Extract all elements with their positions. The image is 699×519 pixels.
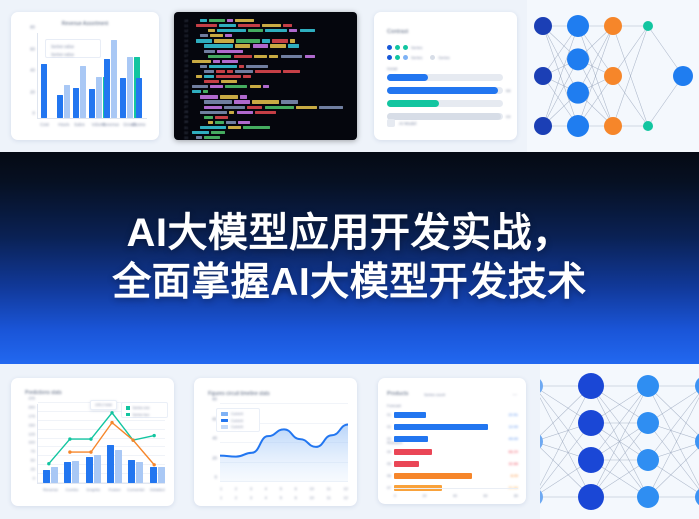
- x-tick: 10: [310, 486, 314, 491]
- line-number: 14: [177, 39, 188, 43]
- hbar-value: 22.51: [508, 413, 518, 417]
- code-token: [225, 34, 231, 37]
- line-number: 13: [177, 34, 188, 38]
- code-token: [208, 55, 231, 58]
- card-footer: AI Model: [387, 119, 416, 127]
- legend-row-1: Series: [387, 45, 427, 50]
- code-token: [262, 39, 270, 42]
- code-token: [235, 19, 254, 22]
- line-number: 23: [177, 85, 188, 89]
- code-token: [210, 34, 223, 37]
- code-token: [234, 100, 250, 103]
- code-token: [238, 121, 250, 124]
- x-tick: Reverse: [43, 487, 58, 492]
- bar: [41, 64, 47, 118]
- legend-label: Series: [438, 55, 449, 60]
- contrast-card: Contrast Series Series Series Detail 6: [374, 12, 517, 140]
- y-tick: 150: [28, 422, 35, 427]
- hbar-value: 12.00: [508, 425, 518, 429]
- hbar: [394, 436, 428, 442]
- code-token: [247, 106, 262, 109]
- x-tick: 3: [250, 495, 252, 500]
- x-tick: 5: [280, 495, 282, 500]
- progress-fill: [387, 87, 498, 94]
- code-token: [221, 80, 237, 83]
- code-token: [208, 29, 215, 32]
- code-token: [254, 55, 266, 58]
- x-tick: Cost: [40, 122, 49, 127]
- line-number: 26: [177, 100, 188, 104]
- more-icon[interactable]: ⋯: [512, 392, 517, 398]
- x-tick: 4: [265, 486, 267, 491]
- hbar-value: 32.88: [508, 462, 518, 466]
- x-tick: 12: [344, 495, 348, 500]
- x-tick: Income: [132, 122, 146, 127]
- code-token: [204, 80, 219, 83]
- line-number: 32: [177, 131, 188, 135]
- x-tick: Fusion: [109, 487, 121, 492]
- hbar-value: 8.09: [511, 474, 518, 478]
- horizontal-bar-card: Products Series count ⋯ Forecast Researc…: [378, 378, 526, 504]
- code-token: [204, 44, 233, 47]
- code-token: [220, 95, 238, 98]
- y-tick: 80: [212, 397, 217, 402]
- promo-banner-page: Revenue Assortment 020406080CostHoursSal…: [0, 0, 699, 519]
- y-tick: 100: [28, 440, 35, 445]
- code-token: [246, 65, 268, 68]
- y-tick: 200: [28, 404, 35, 409]
- y-tick: 225: [28, 396, 35, 401]
- line-number: 28: [177, 110, 188, 114]
- progress-fill: [387, 74, 428, 81]
- code-token: [200, 95, 218, 98]
- hbar: [394, 449, 432, 455]
- neural-network-bottom: [540, 364, 699, 519]
- bar-group: Revenue: [104, 40, 117, 118]
- combo-chart-legend: Series one Series two: [121, 402, 168, 418]
- line-number: 15: [177, 44, 188, 48]
- code-token: [196, 24, 217, 27]
- code-token: [209, 65, 236, 68]
- code-token: [265, 29, 287, 32]
- code-token: [196, 136, 202, 139]
- code-token: [210, 85, 223, 88]
- progress-fill: [387, 100, 439, 107]
- code-token: [204, 70, 214, 73]
- bar-group: Sales: [73, 66, 86, 118]
- legend-label: Series: [411, 55, 422, 60]
- code-token: [200, 126, 226, 129]
- dot-blue-light-icon: [403, 55, 408, 60]
- code-token: [222, 60, 238, 63]
- line-number: 10: [177, 19, 188, 23]
- x-tick: 40: [453, 494, 457, 498]
- code-token: [219, 24, 236, 27]
- legend-entry: Series two: [126, 413, 163, 417]
- code-token: [243, 126, 270, 129]
- bar: [111, 40, 117, 118]
- x-tick: Combo: [66, 487, 79, 492]
- y-tick: 175: [28, 413, 35, 418]
- legend-swatch: [126, 413, 130, 417]
- code-token: [239, 65, 244, 68]
- code-token: [250, 85, 261, 88]
- hbar-x-ticks: 020406080: [394, 494, 518, 498]
- code-token: [288, 44, 299, 47]
- hbar-row-label: 07: [387, 486, 391, 490]
- code-token: [296, 106, 317, 109]
- code-token: [200, 65, 207, 68]
- y-tick: 25: [31, 467, 35, 472]
- line-number: 19: [177, 64, 188, 68]
- x-tick: 6: [295, 486, 297, 491]
- x-tick: Revenue: [102, 122, 119, 127]
- code-token: [200, 34, 208, 37]
- code-token: [235, 70, 253, 73]
- code-token: [224, 106, 245, 109]
- hbar: [394, 473, 472, 479]
- x-tick: Sales: [74, 122, 84, 127]
- hbar-row-label: 04: [387, 450, 391, 454]
- code-token: [234, 55, 252, 58]
- legend-label: Series: [411, 45, 422, 50]
- code-token: [227, 19, 233, 22]
- code-token: [192, 85, 208, 88]
- code-token: [226, 121, 236, 124]
- x-tick: 12: [344, 486, 348, 491]
- bar: [57, 95, 63, 118]
- y-tick: 0: [33, 476, 35, 481]
- code-token: [290, 39, 295, 42]
- hbar-row-label: 05: [387, 462, 391, 466]
- code-token: [204, 50, 215, 53]
- x-tick: 0: [394, 494, 396, 498]
- code-token: [216, 75, 241, 78]
- hbar-row-label: 03: [387, 437, 391, 441]
- code-token: [229, 111, 234, 114]
- banner-line-1: AI大模型应用开发实战，: [127, 210, 573, 257]
- code-token: [227, 70, 233, 73]
- line-number: 33: [177, 136, 188, 140]
- code-editor-panel: 1011121314151617181920212223242526272829…: [168, 0, 364, 152]
- bar: [80, 66, 86, 118]
- x-tick: 4: [265, 495, 267, 500]
- code-token: [253, 44, 268, 47]
- code-token: [225, 85, 248, 88]
- line-number: 25: [177, 95, 188, 99]
- neural-network-bottom-svg: [540, 364, 699, 519]
- area-chart-legend: Current Current Current: [216, 408, 260, 432]
- tooltip: 195.2 total: [90, 400, 117, 410]
- x-tick: Graphic: [86, 487, 100, 492]
- contrast-progress-card: Contrast Series Series Series Detail 6: [364, 0, 527, 152]
- hbar-subtitle: Series count: [424, 393, 445, 397]
- code-token: [228, 126, 241, 129]
- legend-entry: Current: [221, 412, 255, 416]
- bar: [136, 78, 142, 118]
- code-token: [192, 90, 201, 93]
- hbar-title: Products: [387, 391, 408, 397]
- code-token: [204, 116, 213, 119]
- line-number: 11: [177, 24, 188, 28]
- y-tick: 20: [212, 455, 217, 460]
- code-token: [240, 95, 247, 98]
- progress-track: 68: [387, 87, 503, 94]
- x-tick: 10: [310, 495, 314, 500]
- bar: [120, 78, 126, 118]
- code-token: [300, 29, 316, 32]
- bar: [73, 88, 79, 118]
- code-token: [269, 55, 279, 58]
- x-tick: 3: [250, 486, 252, 491]
- bar: [64, 85, 70, 118]
- code-token: [270, 44, 286, 47]
- bar: [89, 89, 95, 118]
- code-token: [196, 75, 202, 78]
- footer-label: AI Model: [399, 121, 416, 126]
- code-token: [262, 24, 281, 27]
- x-tick: 60: [484, 494, 488, 498]
- code-token: [272, 39, 288, 42]
- hbar: [394, 461, 419, 467]
- code-token: [200, 111, 227, 114]
- x-tick: 80: [514, 494, 518, 498]
- line-number: 22: [177, 80, 188, 84]
- x-tick: Converter: [127, 487, 145, 492]
- hbar-row-label: 01: [387, 413, 391, 417]
- line-number: 21: [177, 75, 188, 79]
- area-chart-card: Figures circuit timeline stats 020406080…: [194, 378, 357, 506]
- code-token: [289, 29, 297, 32]
- y-tick: 40: [30, 68, 35, 73]
- legend-swatch: [221, 412, 228, 416]
- legend-swatch: [221, 419, 228, 423]
- hbar-value: 66.20: [508, 450, 518, 454]
- neural-network-top-svg: [527, 0, 699, 152]
- x-tick: 2: [235, 486, 237, 491]
- line-number: 18: [177, 59, 188, 63]
- code-token: [236, 39, 260, 42]
- progress-value: 68: [506, 88, 510, 93]
- code-token: [203, 90, 208, 93]
- code-token: [255, 111, 276, 114]
- code-token: [248, 29, 263, 32]
- code-token: [211, 131, 226, 134]
- code-token: [192, 131, 209, 134]
- legend-entry: Series value: [51, 52, 95, 57]
- code-token: [305, 55, 316, 58]
- y-tick: 80: [30, 25, 35, 30]
- code-token: [215, 121, 224, 124]
- bar-group: Income: [136, 78, 142, 118]
- dot-teal-icon: [395, 45, 400, 50]
- code-token: [214, 39, 234, 42]
- bar-group: Cost: [41, 64, 47, 118]
- line-number: 17: [177, 54, 188, 58]
- y-tick: 75: [31, 449, 35, 454]
- line-number: 24: [177, 90, 188, 94]
- line-number: 31: [177, 126, 188, 130]
- x-tick: Detailed: [150, 487, 165, 492]
- code-token: [213, 60, 219, 63]
- y-tick: 0: [215, 475, 217, 480]
- code-token: [192, 60, 211, 63]
- code-token: [204, 106, 222, 109]
- hbar: [394, 424, 488, 430]
- code-token: [265, 106, 294, 109]
- line-number: 16: [177, 49, 188, 53]
- y-tick: 40: [212, 436, 217, 441]
- hbar-row-label: 06: [387, 474, 391, 478]
- x-tick: 5: [280, 486, 282, 491]
- combo-chart-panel: Predictions stats 0255075100125150175200…: [0, 364, 185, 519]
- banner: AI大模型应用开发实战， 全面掌握AI大模型开发技术: [0, 152, 699, 364]
- hbar-section-1: Forecast: [387, 404, 401, 408]
- top-panel-strip: Revenue Assortment 020406080CostHoursSal…: [0, 0, 699, 152]
- progress-value: 09: [506, 114, 510, 119]
- code-token: [281, 55, 303, 58]
- code-token: [263, 85, 269, 88]
- legend-swatch: [126, 406, 130, 410]
- code-token: [204, 75, 214, 78]
- line-number: 30: [177, 120, 188, 124]
- hbar: [394, 412, 426, 418]
- line-number: 20: [177, 69, 188, 73]
- bar: [96, 77, 102, 118]
- code-token: [209, 19, 225, 22]
- progress-track: [387, 100, 503, 107]
- code-token: [252, 100, 279, 103]
- code-token: [217, 50, 243, 53]
- code-token: [243, 75, 251, 78]
- y-tick: 125: [28, 431, 35, 436]
- x-tick: 1: [220, 495, 222, 500]
- code-token: [283, 70, 300, 73]
- y-tick: 60: [30, 46, 35, 51]
- legend-row-2: Series Series: [387, 55, 455, 60]
- code-token: [204, 100, 232, 103]
- horizontal-bar-panel: Products Series count ⋯ Forecast Researc…: [370, 364, 540, 519]
- bar-chart-panel: Revenue Assortment 020406080CostHoursSal…: [0, 0, 168, 152]
- bar: [104, 59, 110, 118]
- swatch-icon: [387, 119, 395, 127]
- area-x-axis-row-2: 123456101112: [220, 495, 348, 500]
- bar-chart-card: Revenue Assortment 020406080CostHoursSal…: [11, 12, 159, 140]
- banner-line-2: 全面掌握AI大模型开发技术: [112, 260, 587, 306]
- code-token: [208, 121, 213, 124]
- neural-network-top: [527, 0, 699, 152]
- dot-blue-icon: [387, 55, 392, 60]
- code-token: [216, 70, 224, 73]
- code-token: [237, 111, 253, 114]
- code-token: [204, 136, 220, 139]
- code-token: [281, 100, 298, 103]
- legend-entry: Series value: [51, 44, 95, 49]
- legend-swatch: [221, 425, 228, 429]
- x-tick: 1: [220, 486, 222, 491]
- x-tick: 20: [423, 494, 427, 498]
- dot-teal-icon: [395, 55, 400, 60]
- bar: [127, 57, 133, 118]
- area-x-axis-row-1: 123456101112: [220, 486, 348, 491]
- x-tick: Hours: [58, 122, 69, 127]
- hbar-x-axis: [394, 488, 518, 489]
- x-tick: 11: [327, 495, 331, 500]
- contrast-title: Contrast: [387, 29, 408, 35]
- y-tick: 50: [31, 458, 35, 463]
- legend-entry: Current: [221, 419, 255, 423]
- code-lines[interactable]: 1011121314151617181920212223242526272829…: [174, 12, 357, 140]
- code-token: [235, 44, 250, 47]
- dot-teal-icon: [403, 45, 408, 50]
- x-tick: 2: [235, 495, 237, 500]
- y-tick: 0: [33, 111, 35, 116]
- code-editor-window[interactable]: 1011121314151617181920212223242526272829…: [174, 12, 357, 140]
- hbar-value: 49.00: [508, 437, 518, 441]
- dot-blue-icon: [387, 45, 392, 50]
- code-token: [283, 24, 292, 27]
- combo-chart-card: Predictions stats 0255075100125150175200…: [11, 378, 174, 506]
- hbar-row-label: 02: [387, 425, 391, 429]
- code-token: [319, 106, 343, 109]
- code-token: [200, 19, 207, 22]
- x-tick: 11: [327, 486, 331, 491]
- code-token: [215, 116, 227, 119]
- code-token: [255, 70, 281, 73]
- code-token: [196, 39, 212, 42]
- legend-entry: Current: [221, 425, 255, 429]
- bar-group: Hours: [57, 85, 70, 118]
- code-token: [238, 24, 260, 27]
- area-chart-panel: Figures circuit timeline stats 020406080…: [185, 364, 370, 519]
- bar-chart-legend: Series value Series value: [45, 39, 101, 58]
- bottom-panel-strip: Predictions stats 0255075100125150175200…: [0, 364, 699, 519]
- x-tick: 6: [295, 495, 297, 500]
- code-token: [217, 29, 246, 32]
- dot-grey-icon: [430, 55, 435, 60]
- line-number: 29: [177, 115, 188, 119]
- progress-track: [387, 74, 503, 81]
- line-number: 27: [177, 105, 188, 109]
- y-tick: 20: [30, 89, 35, 94]
- line-number: 12: [177, 29, 188, 33]
- legend-entry: Series one: [126, 406, 163, 410]
- section-label: Detail: [387, 66, 397, 71]
